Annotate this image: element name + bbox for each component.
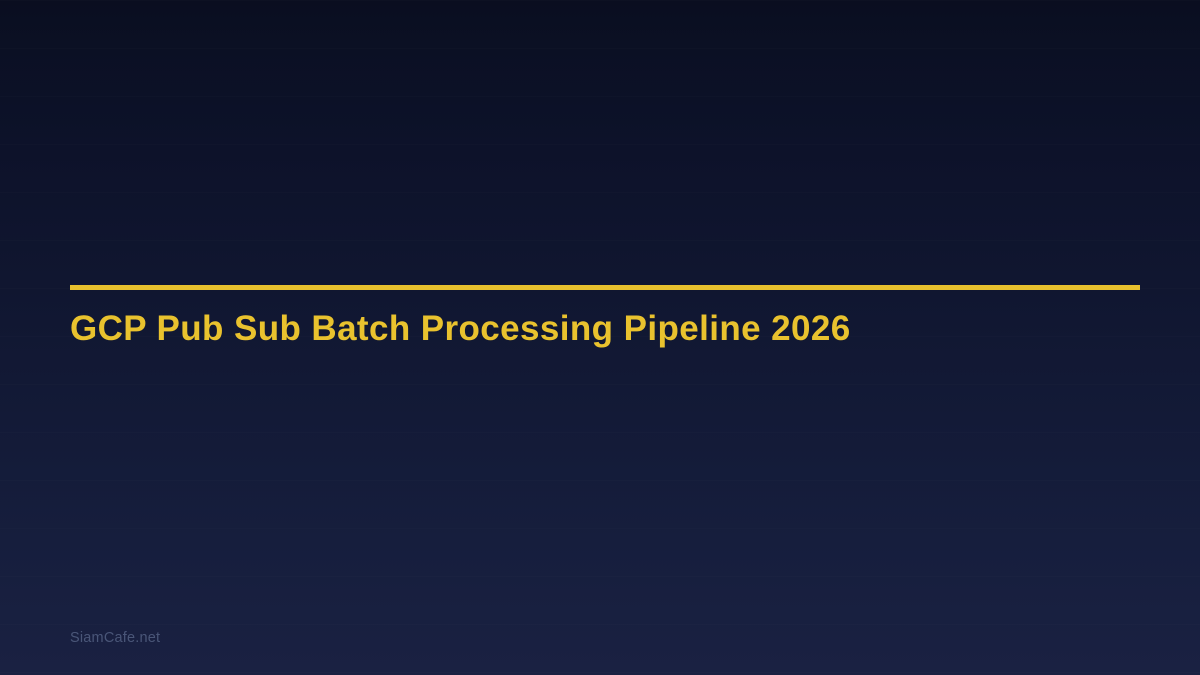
- title-block: GCP Pub Sub Batch Processing Pipeline 20…: [70, 285, 1140, 348]
- footer-brand-label: SiamCafe.net: [70, 630, 160, 646]
- slide-canvas: GCP Pub Sub Batch Processing Pipeline 20…: [0, 0, 1200, 675]
- footer: SiamCafe.net: [70, 629, 160, 647]
- page-title: GCP Pub Sub Batch Processing Pipeline 20…: [70, 290, 1140, 348]
